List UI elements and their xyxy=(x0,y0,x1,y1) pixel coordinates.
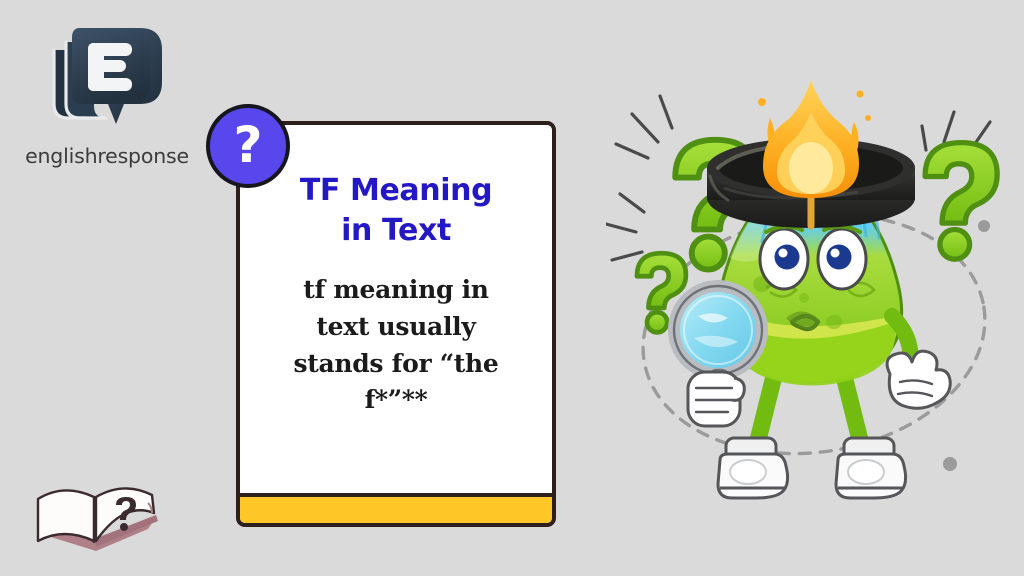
brand-name: englishresponse xyxy=(14,144,200,168)
card-body-line-2: text usually xyxy=(316,312,475,341)
brand-logo: englishresponse xyxy=(14,16,200,172)
card-body-text: tf meaning in text usually stands for “t… xyxy=(293,272,498,419)
card-title: TF Meaning in Text xyxy=(300,171,492,250)
green-question-mark-icon xyxy=(925,143,997,260)
flame-icon xyxy=(758,80,871,198)
card-body-line-4: f*”** xyxy=(365,385,428,414)
white-glove-icon xyxy=(688,372,744,426)
englishresponse-logo-icon xyxy=(32,16,172,138)
question-badge-glyph: ? xyxy=(233,120,262,170)
card-footer-bar xyxy=(240,493,552,523)
white-boot-icon xyxy=(836,438,906,498)
white-glove-icon xyxy=(887,351,950,408)
card-title-line-1: TF Meaning xyxy=(300,173,492,208)
card-content: TF Meaning in Text tf meaning in text us… xyxy=(240,125,552,491)
question-mark-badge-icon: ? xyxy=(206,104,290,188)
open-book-with-question-mark-icon xyxy=(28,455,168,565)
white-boot-icon xyxy=(718,438,788,498)
card-body-line-1: tf meaning in xyxy=(303,275,488,304)
card-title-line-2: in Text xyxy=(341,213,451,248)
card-body-line-3: stands for “the xyxy=(293,349,498,378)
info-card: TF Meaning in Text tf meaning in text us… xyxy=(236,121,556,527)
slide-canvas: englishresponse TF Meaning xyxy=(0,0,1024,576)
mascot-illustration xyxy=(606,76,1016,528)
